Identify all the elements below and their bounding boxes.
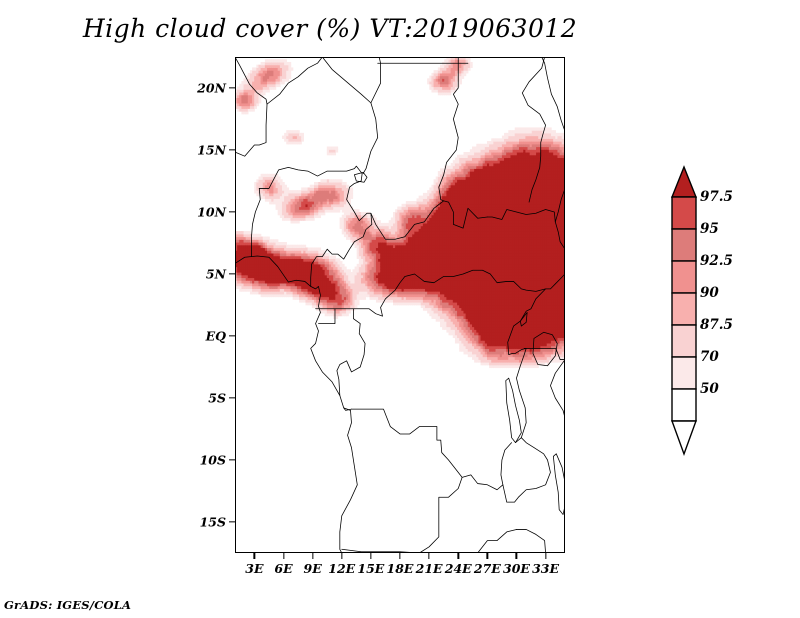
latitude-tick-label: 20N [197,81,226,96]
longitude-tick-mark [370,553,371,559]
longitude-tick-mark [254,553,255,559]
latitude-tick-label: EQ [206,329,226,344]
latitude-tick-mark [229,211,235,212]
latitude-tick-label: 15S [200,515,226,530]
longitude-tick-label: 18E [387,561,414,576]
longitude-tick-mark [341,553,342,559]
latitude-tick-label: 10N [197,205,226,220]
longitude-tick-label: 3E [245,561,263,576]
longitude-tick-label: 9E [304,561,322,576]
latitude-tick-label: 10S [200,453,226,468]
longitude-tick-label: 21E [416,561,443,576]
longitude-tick-mark [283,553,284,559]
latitude-tick-mark [229,149,235,150]
longitude-tick-label: 27E [474,561,501,576]
longitude-tick-label: 24E [445,561,472,576]
colorbar-arrow-bottom [672,421,696,454]
colorbar-swatches [664,160,794,465]
latitude-tick-mark [229,335,235,336]
colorbar-tick-label: 50 [700,381,719,397]
longitude-tick-label: 6E [274,561,292,576]
colorbar-tick-label: 95 [700,221,719,237]
longitude-tick-mark [487,553,488,559]
colorbar-segment [672,389,696,421]
colorbar-segment [672,197,696,229]
latitude-tick-mark [229,521,235,522]
longitude-tick-mark [516,553,517,559]
colorbar-tick-label: 90 [700,285,719,301]
colorbar-segment [672,261,696,293]
colorbar-arrow-top [672,167,696,197]
page-title: High cloud cover (%) VT:2019063012 [0,14,660,43]
latitude-tick-label: 5S [208,391,226,406]
colorbar-tick-label: 87.5 [700,317,733,333]
colorbar-tick-label: 70 [700,349,719,365]
longitude-tick-mark [312,553,313,559]
latitude-tick-mark [229,459,235,460]
colorbar-segment [672,229,696,261]
latitude-tick-label: 5N [206,267,226,282]
longitude-tick-mark [428,553,429,559]
latitude-tick-mark [229,273,235,274]
colorbar-tick-label: 92.5 [700,253,733,269]
map-plot-area[interactable]: 20N15N10N5NEQ5S10S15S 3E6E9E12E15E18E21E… [235,57,565,553]
colorbar-segment [672,325,696,357]
latitude-tick-mark [229,87,235,88]
colorbar-tick-label: 97.5 [700,189,733,205]
longitude-tick-label: 15E [357,561,384,576]
longitude-tick-label: 30E [503,561,530,576]
latitude-tick-mark [229,397,235,398]
longitude-tick-label: 33E [532,561,559,576]
colorbar[interactable]: 97.59592.59087.57050 [664,160,794,465]
longitude-tick-mark [545,553,546,559]
colorbar-segment [672,293,696,325]
longitude-tick-label: 12E [328,561,355,576]
longitude-tick-mark [458,553,459,559]
grads-credit: GrADS: IGES/COLA [4,598,131,612]
longitude-tick-mark [399,553,400,559]
cloud-cover-heatmap [235,57,565,553]
colorbar-segment [672,357,696,389]
latitude-tick-label: 15N [197,143,226,158]
